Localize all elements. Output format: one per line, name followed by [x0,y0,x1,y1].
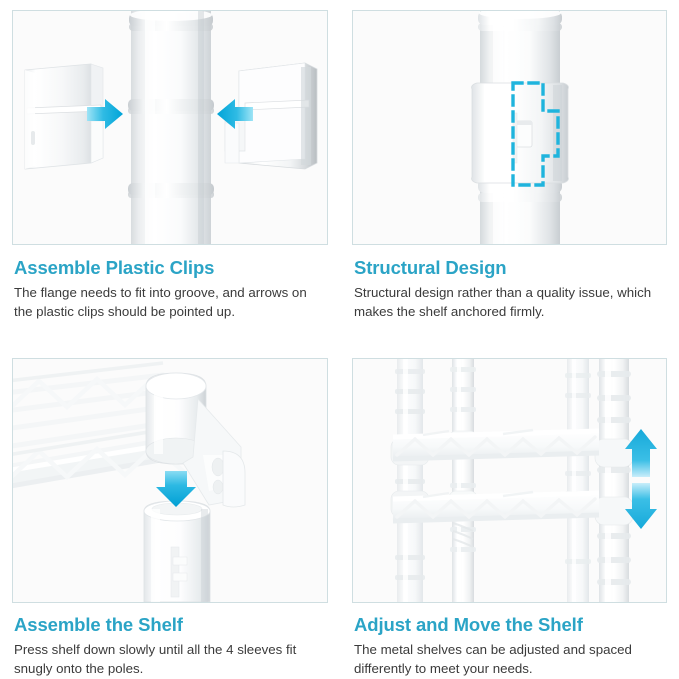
caption-structural-design: Structural Design Structural design rath… [352,245,667,321]
pole-front-right [595,359,633,602]
caption-adjust-and-move-the-shelf: Adjust and Move the Shelf The metal shel… [352,603,667,678]
pole-back-right [565,359,591,602]
pole-sleeve-below [144,501,210,602]
caption-assemble-the-shelf: Assemble the Shelf Press shelf down slow… [12,603,328,678]
panel-body: The metal shelves can be adjusted and sp… [354,640,667,678]
panel-assemble-the-shelf: Assemble the Shelf Press shelf down slow… [0,348,340,679]
illustration-structural-design [353,11,667,244]
panel-body: Structural design rather than a quality … [354,283,667,321]
panel-heading: Structural Design [354,257,667,279]
pole-back-left [391,359,429,602]
panel-heading: Assemble the Shelf [14,614,328,636]
panel-adjust-and-move-the-shelf: Adjust and Move the Shelf The metal shel… [340,348,679,679]
pole [128,11,214,244]
panel-heading: Assemble Plastic Clips [14,257,328,279]
pole-front-left [449,359,477,602]
panel-heading: Adjust and Move the Shelf [354,614,667,636]
panel-assemble-plastic-clips: Assemble Plastic Clips The flange needs … [0,0,340,348]
figure-pole-sleeve-seam-highlight [352,10,667,245]
caption-assemble-plastic-clips: Assemble Plastic Clips The flange needs … [12,245,328,321]
illustration-adjust-move-shelf [353,359,667,602]
panel-grid: Assemble Plastic Clips The flange needs … [0,0,679,679]
panel-body: Press shelf down slowly until all the 4 … [14,640,328,678]
shelf-lower [393,492,599,521]
illustration-assemble-shelf [13,359,328,602]
panel-structural-design: Structural Design Structural design rath… [340,0,679,348]
figure-pole-with-two-plastic-clips [12,10,328,245]
infographic-sheet: Assemble Plastic Clips The flange needs … [0,0,679,679]
figure-shelf-pressed-onto-pole-sleeve [12,358,328,603]
figure-shelving-unit-adjustable [352,358,667,603]
shelf-upper [393,430,599,459]
illustration-plastic-clips [13,11,328,244]
panel-body: The flange needs to fit into groove, and… [14,283,328,321]
